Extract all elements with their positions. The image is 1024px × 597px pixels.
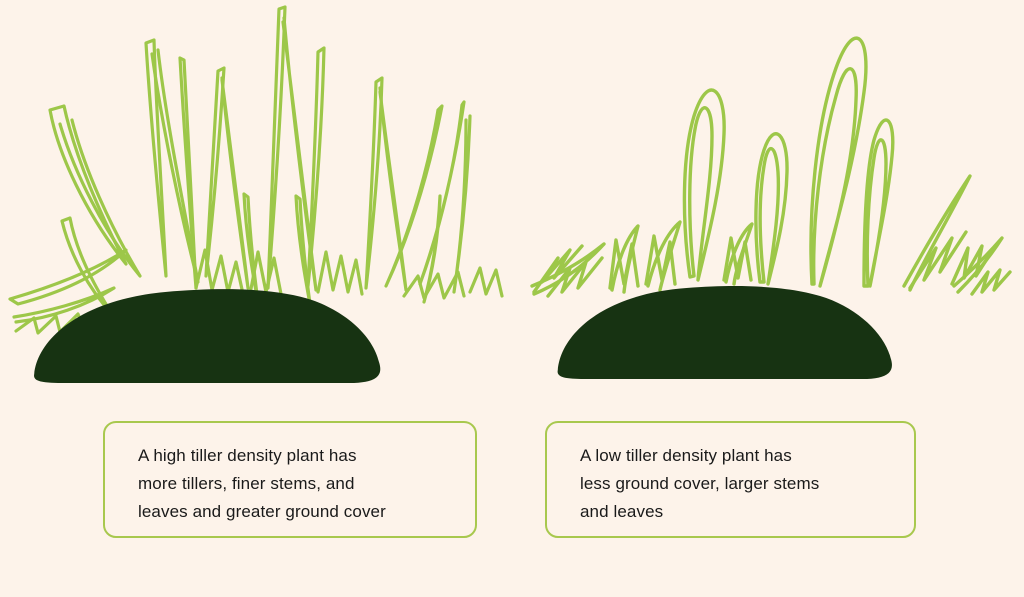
high-tiller-density-grass-illustration <box>0 0 512 410</box>
grass-blades-group <box>532 38 1010 296</box>
caption-box-high-density: A high tiller density plant has more til… <box>103 421 477 538</box>
ground-cover-mound <box>558 286 892 379</box>
caption-text-high-density: A high tiller density plant has more til… <box>138 442 458 526</box>
figure-canvas: A high tiller density plant has more til… <box>0 0 1024 597</box>
caption-line: and leaves <box>580 498 890 526</box>
grass-blades-group <box>10 7 502 333</box>
caption-line: A high tiller density plant has <box>138 442 458 470</box>
low-tiller-density-grass-illustration <box>512 0 1024 410</box>
caption-line: less ground cover, larger stems <box>580 470 890 498</box>
caption-text-low-density: A low tiller density plant has less grou… <box>580 442 890 526</box>
caption-line: more tillers, finer stems, and <box>138 470 458 498</box>
caption-line: A low tiller density plant has <box>580 442 890 470</box>
caption-line: leaves and greater ground cover <box>138 498 458 526</box>
panel-low-tiller-density: A low tiller density plant has less grou… <box>512 0 1024 597</box>
caption-box-low-density: A low tiller density plant has less grou… <box>545 421 916 538</box>
panel-high-tiller-density: A high tiller density plant has more til… <box>0 0 512 597</box>
